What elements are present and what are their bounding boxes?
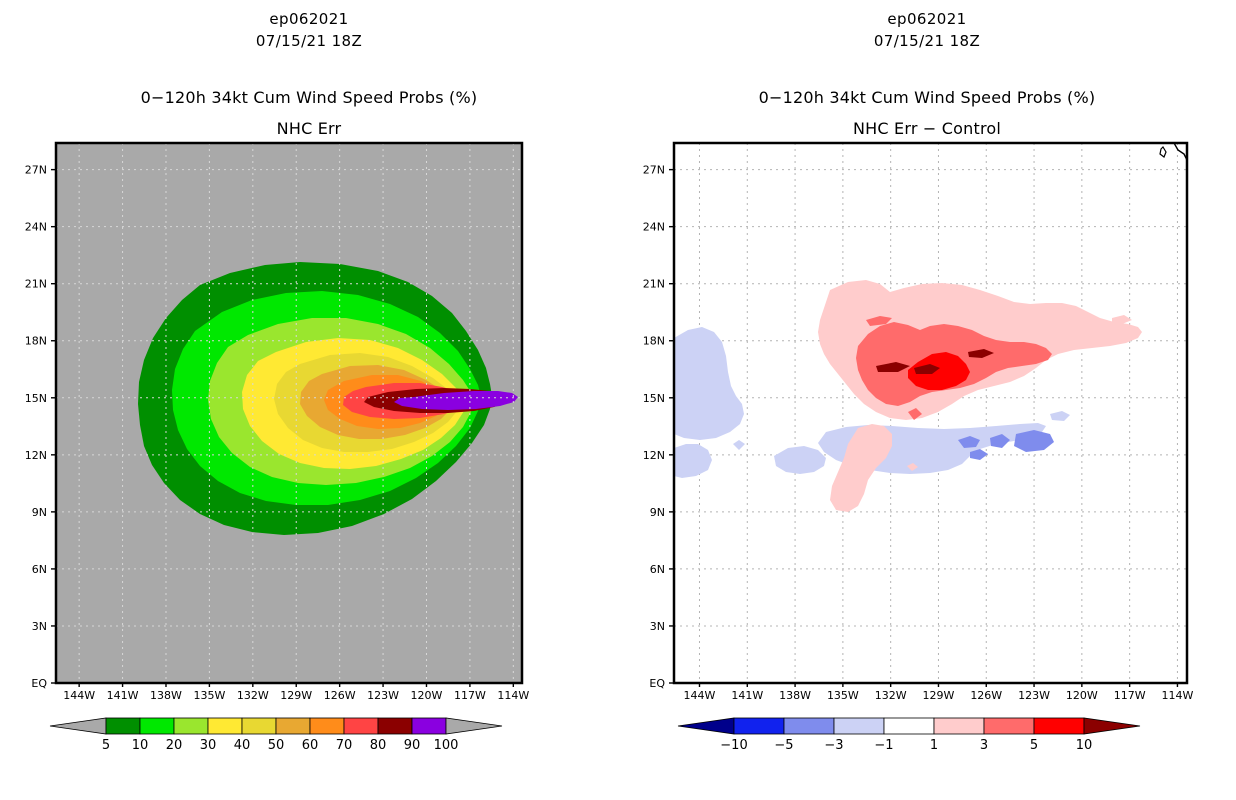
colorbar-label-−10: −10	[720, 738, 747, 753]
colorbar-label-40: 40	[234, 738, 251, 753]
xtick-label-123W: 123W	[367, 689, 399, 702]
xtick-label-114W: 114W	[1162, 689, 1194, 702]
colorbar-label-90: 90	[404, 738, 421, 753]
colorbar-label-1: 1	[930, 738, 938, 753]
colorbar-swatch-4[interactable]	[934, 718, 984, 734]
colorbar-label-−1: −1	[874, 738, 893, 753]
colorbar-label-30: 30	[200, 738, 217, 753]
ytick-label-6N: 6N	[650, 563, 665, 576]
colorbar-swatch-6[interactable]	[1034, 718, 1084, 734]
xtick-label-120W: 120W	[1066, 689, 1098, 702]
colorbar-probability[interactable]: 5102030405060708090100	[50, 718, 502, 753]
coastline-baja-california	[522, 143, 568, 170]
colorbar-swatch-8[interactable]	[378, 718, 412, 734]
xtick-label-120W: 120W	[411, 689, 443, 702]
colorbar-label-−5: −5	[774, 738, 793, 753]
colorbar-swatch-0[interactable]	[106, 718, 140, 734]
xtick-label-138W: 138W	[150, 689, 182, 702]
colorbar-swatch-9[interactable]	[412, 718, 446, 734]
colorbar-swatch-4[interactable]	[242, 718, 276, 734]
colorbar-swatch-2[interactable]	[174, 718, 208, 734]
ytick-label-9N: 9N	[32, 506, 47, 519]
xtick-label-117W: 117W	[454, 689, 486, 702]
colorbar-label-70: 70	[336, 738, 353, 753]
panel-nhc-err: ep062021 07/15/21 18Z 0−120h 34kt Cum Wi…	[0, 0, 618, 800]
colorbar-label-−3: −3	[824, 738, 843, 753]
ytick-label-21N: 21N	[643, 278, 665, 291]
colorbar-label-50: 50	[268, 738, 285, 753]
colorbar-over-arrow	[446, 718, 502, 734]
xtick-label-117W: 117W	[1114, 689, 1146, 702]
xtick-label-123W: 123W	[1018, 689, 1050, 702]
colorbar-under-arrow	[678, 718, 734, 734]
ytick-label-27N: 27N	[25, 164, 47, 177]
colorbar-label-5: 5	[1030, 738, 1038, 753]
xtick-label-141W: 141W	[731, 689, 763, 702]
ytick-label-12N: 12N	[643, 449, 665, 462]
colorbar-label-10: 10	[1076, 738, 1093, 753]
ytick-label-EQ: EQ	[649, 677, 665, 690]
colorbar-difference[interactable]: −10−5−3−113510	[678, 718, 1140, 753]
colorbar-swatch-1[interactable]	[140, 718, 174, 734]
xtick-label-141W: 141W	[107, 689, 139, 702]
xtick-label-114W: 114W	[497, 689, 529, 702]
ytick-label-12N: 12N	[25, 449, 47, 462]
ytick-label-9N: 9N	[650, 506, 665, 519]
chart-page: ep062021 07/15/21 18Z 0−120h 34kt Cum Wi…	[0, 0, 1236, 800]
ytick-label-27N: 27N	[643, 164, 665, 177]
ytick-label-EQ: EQ	[31, 677, 47, 690]
xtick-label-132W: 132W	[875, 689, 907, 702]
colorbar-swatch-5[interactable]	[276, 718, 310, 734]
xtick-label-132W: 132W	[237, 689, 269, 702]
colorbar-under-arrow	[50, 718, 106, 734]
ytick-label-18N: 18N	[643, 335, 665, 348]
ytick-label-3N: 3N	[32, 620, 47, 633]
colorbar-swatch-6[interactable]	[310, 718, 344, 734]
right-plot-svg: 144W141W138W135W132W129W126W123W120W117W…	[618, 0, 1236, 800]
colorbar-swatch-1[interactable]	[784, 718, 834, 734]
xtick-label-138W: 138W	[779, 689, 811, 702]
colorbar-over-arrow	[1084, 718, 1140, 734]
ytick-label-21N: 21N	[25, 278, 47, 291]
xtick-label-144W: 144W	[63, 689, 95, 702]
xtick-label-135W: 135W	[827, 689, 859, 702]
ytick-label-24N: 24N	[643, 221, 665, 234]
ytick-label-18N: 18N	[25, 335, 47, 348]
colorbar-label-5: 5	[102, 738, 110, 753]
colorbar-swatch-3[interactable]	[884, 718, 934, 734]
colorbar-label-60: 60	[302, 738, 319, 753]
ytick-label-15N: 15N	[643, 392, 665, 405]
colorbar-label-20: 20	[166, 738, 183, 753]
colorbar-label-80: 80	[370, 738, 387, 753]
colorbar-swatch-3[interactable]	[208, 718, 242, 734]
xtick-label-144W: 144W	[684, 689, 716, 702]
ytick-label-6N: 6N	[32, 563, 47, 576]
xtick-label-126W: 126W	[324, 689, 356, 702]
xtick-label-129W: 129W	[923, 689, 955, 702]
xtick-label-126W: 126W	[970, 689, 1002, 702]
ytick-label-15N: 15N	[25, 392, 47, 405]
colorbar-swatch-2[interactable]	[834, 718, 884, 734]
panel-nhc-err-minus-control: ep062021 07/15/21 18Z 0−120h 34kt Cum Wi…	[618, 0, 1236, 800]
colorbar-label-3: 3	[980, 738, 988, 753]
left-plot-svg: 144W141W138W135W132W129W126W123W120W117W…	[0, 0, 618, 800]
colorbar-label-10: 10	[132, 738, 149, 753]
colorbar-swatch-7[interactable]	[344, 718, 378, 734]
xtick-label-135W: 135W	[193, 689, 225, 702]
xtick-label-129W: 129W	[280, 689, 312, 702]
ytick-label-3N: 3N	[650, 620, 665, 633]
colorbar-swatch-5[interactable]	[984, 718, 1034, 734]
colorbar-swatch-0[interactable]	[734, 718, 784, 734]
colorbar-label-100: 100	[434, 738, 459, 753]
ytick-label-24N: 24N	[25, 221, 47, 234]
